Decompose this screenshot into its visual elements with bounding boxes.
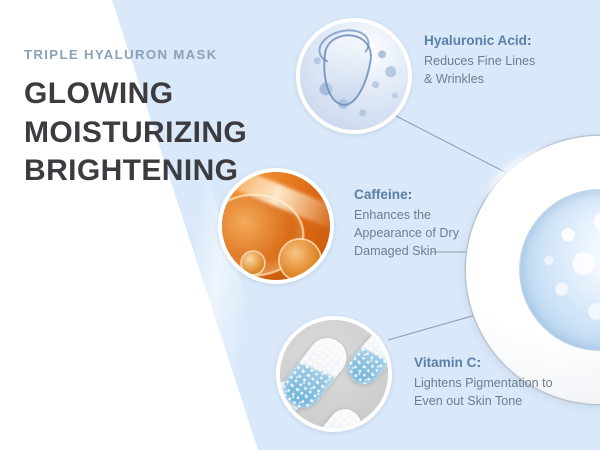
caffeine-description: Enhances the Appearance of Dry Damaged S… (354, 207, 459, 261)
ingredient-circle-vitamin-c (276, 316, 392, 432)
caffeine-colon: : (408, 187, 413, 202)
hyaluronic-acid-label: Hyaluronic Acid (424, 33, 527, 48)
headline-line-1: GLOWING (24, 75, 247, 113)
headline-block: GLOWING MOISTURIZING BRIGHTENING (24, 75, 247, 190)
ha-desc-line-2: & Wrinkles (424, 71, 535, 89)
hyaluronic-acid-colon: : (527, 33, 532, 48)
caf-desc-line-3: Damaged Skin (354, 243, 459, 261)
infographic-canvas: TRIPLE HYALURON MASK GLOWING MOISTURIZIN… (0, 0, 600, 450)
caf-desc-line-2: Appearance of Dry (354, 225, 459, 243)
vc-desc-line-1: Lightens Pigmentation to (414, 375, 553, 393)
caffeine-name: Caffeine: (354, 188, 459, 203)
vitamin-c-name: Vitamin C: (414, 356, 553, 371)
vc-desc-line-2: Even out Skin Tone (414, 393, 553, 411)
vitamin-c-label: Vitamin C (414, 355, 476, 370)
ingredient-text-vitamin-c: Vitamin C: Lightens Pigmentation to Even… (414, 356, 553, 411)
oil-bubble-small (242, 252, 264, 274)
ingredient-text-caffeine: Caffeine: Enhances the Appearance of Dry… (354, 188, 459, 261)
hyaluronic-acid-name: Hyaluronic Acid: (424, 34, 535, 49)
ingredient-circle-hyaluronic-acid (296, 18, 412, 134)
caffeine-label: Caffeine (354, 187, 408, 202)
headline-line-2: MOISTURIZING (24, 114, 247, 152)
brand-copy-block: TRIPLE HYALURON MASK GLOWING MOISTURIZIN… (24, 48, 247, 190)
vitamin-c-colon: : (476, 355, 481, 370)
hyaluronic-acid-description: Reduces Fine Lines & Wrinkles (424, 53, 535, 89)
product-eyebrow: TRIPLE HYALURON MASK (24, 48, 247, 61)
vitamin-c-photo (276, 316, 392, 432)
vitamin-c-description: Lightens Pigmentation to Even out Skin T… (414, 375, 553, 411)
ingredient-text-hyaluronic-acid: Hyaluronic Acid: Reduces Fine Lines & Wr… (424, 34, 535, 89)
caf-desc-line-1: Enhances the (354, 207, 459, 225)
oil-bubble-medium (280, 240, 320, 280)
hyaluronic-acid-photo (296, 18, 412, 134)
headline-line-3: BRIGHTENING (24, 152, 247, 190)
ha-desc-line-1: Reduces Fine Lines (424, 53, 535, 71)
